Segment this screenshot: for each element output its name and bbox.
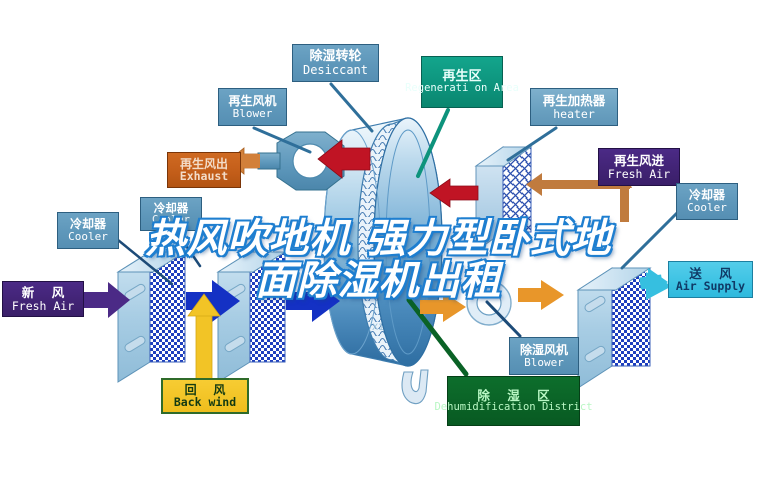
label-cooler-right-en: Cooler [687,202,727,214]
label-desiccant-wheel[interactable]: 除湿转轮 Desiccant [292,44,379,82]
label-dehumidify-blower-cn: 除湿风机 [520,344,568,357]
label-cooler-right[interactable]: 冷却器 Cooler [676,183,738,220]
label-back-wind-en: Back wind [174,396,236,408]
label-desiccant-wheel-cn: 除湿转轮 [309,50,361,64]
label-regeneration-fresh-air[interactable]: 再生风进 Fresh Air [598,148,680,186]
label-cooler-left-inner-en: Cooler [152,215,190,226]
svg-text:X1: X1 [372,323,384,333]
condensate-drain-tray [402,370,428,404]
label-regeneration-fresh-air-cn: 再生风进 [614,154,664,167]
label-fresh-air-intake-en: Fresh Air [12,300,74,312]
label-dehumidification-district[interactable]: 除 湿 区 Dehumidification District [447,376,580,426]
label-regeneration-blower-en: Blower [233,108,273,120]
label-air-supply[interactable]: 送 风 Air Supply [668,261,753,298]
label-regeneration-heater[interactable]: 再生加热器 heater [530,88,618,126]
label-cooler-left-outer[interactable]: 冷却器 Cooler [57,212,119,249]
label-exhaust-air[interactable]: 再生风出 Exhaust [167,152,241,188]
label-regeneration-blower[interactable]: 再生风机 Blower [218,88,287,126]
label-desiccant-wheel-en: Desiccant [303,64,368,77]
cooler-coil-unit-2 [218,252,285,382]
label-regeneration-area-cn: 再生区 [442,70,481,84]
label-fresh-air-intake[interactable]: 新 风 Fresh Air [2,281,84,317]
label-back-wind[interactable]: 回 风 Back wind [161,378,249,414]
label-dehumidify-blower[interactable]: 除湿风机 Blower [509,337,579,375]
label-exhaust-air-en: Exhaust [180,170,228,182]
label-dehumidification-district-en: Dehumidification District [434,402,592,413]
label-dehumidify-blower-en: Blower [524,357,564,369]
dry-air-arrow-2 [518,280,564,310]
cooler-coil-unit-1 [118,252,185,382]
label-cooler-left-inner[interactable]: 冷却器 Cooler [140,197,202,231]
cooler-coil-unit-3 [578,268,650,388]
dehumidifier-process-diagram: X1 [0,0,757,488]
label-regeneration-heater-cn: 再生加热器 [543,94,606,107]
label-cooler-left-outer-en: Cooler [68,231,108,243]
label-regeneration-blower-cn: 再生风机 [228,95,276,108]
label-regeneration-fresh-air-en: Fresh Air [608,168,670,180]
label-regeneration-area-en: Regenerati on Area [405,83,519,94]
label-fresh-air-intake-cn: 新 风 [22,286,64,299]
label-regeneration-area[interactable]: 再生区 Regenerati on Area [421,56,503,108]
label-air-supply-en: Air Supply [676,280,745,292]
label-cooler-left-inner-cn: 冷却器 [154,202,189,214]
regeneration-heater-coil [476,147,531,251]
label-regeneration-heater-en: heater [553,108,595,120]
